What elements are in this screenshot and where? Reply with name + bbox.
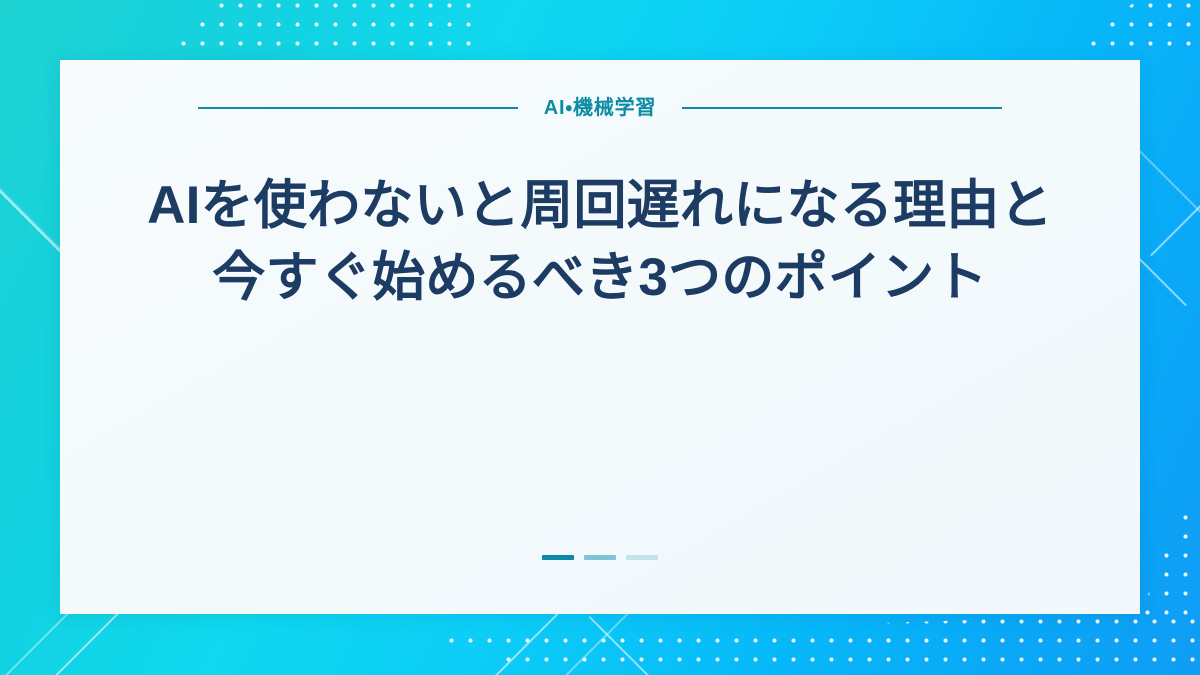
dot-pattern-bottom-right xyxy=(385,612,1200,675)
progress-dash-2[interactable] xyxy=(584,555,616,560)
progress-dash-3[interactable] xyxy=(626,555,658,560)
eyebrow-rule-left xyxy=(198,107,518,109)
dot-pattern-right xyxy=(1138,470,1200,620)
progress-dash-1[interactable] xyxy=(542,555,574,560)
progress-indicator xyxy=(60,555,1140,560)
dot-pattern-top xyxy=(155,0,475,62)
category-label: AI・機械学習 xyxy=(518,98,682,118)
diagonal-line-right-mid xyxy=(1150,128,1200,257)
title-container: AIを使わないと周回遅れになる理由と今すぐ始めるべき3つのポイント xyxy=(135,170,1065,614)
content-card: AI・機械学習 AIを使わないと周回遅れになる理由と今すぐ始めるべき3つのポイン… xyxy=(60,60,1140,614)
diagonal-line-bottom-chevron xyxy=(589,616,682,675)
dot-pattern-top-right xyxy=(1065,0,1200,58)
category-eyebrow: AI・機械学習 xyxy=(60,98,1140,118)
page-title: AIを使わないと周回遅れになる理由と今すぐ始めるべき3つのポイント xyxy=(135,170,1065,313)
eyebrow-rule-right xyxy=(682,107,1002,109)
slide-stage: AI・機械学習 AIを使わないと周回遅れになる理由と今すぐ始めるべき3つのポイン… xyxy=(0,0,1200,675)
